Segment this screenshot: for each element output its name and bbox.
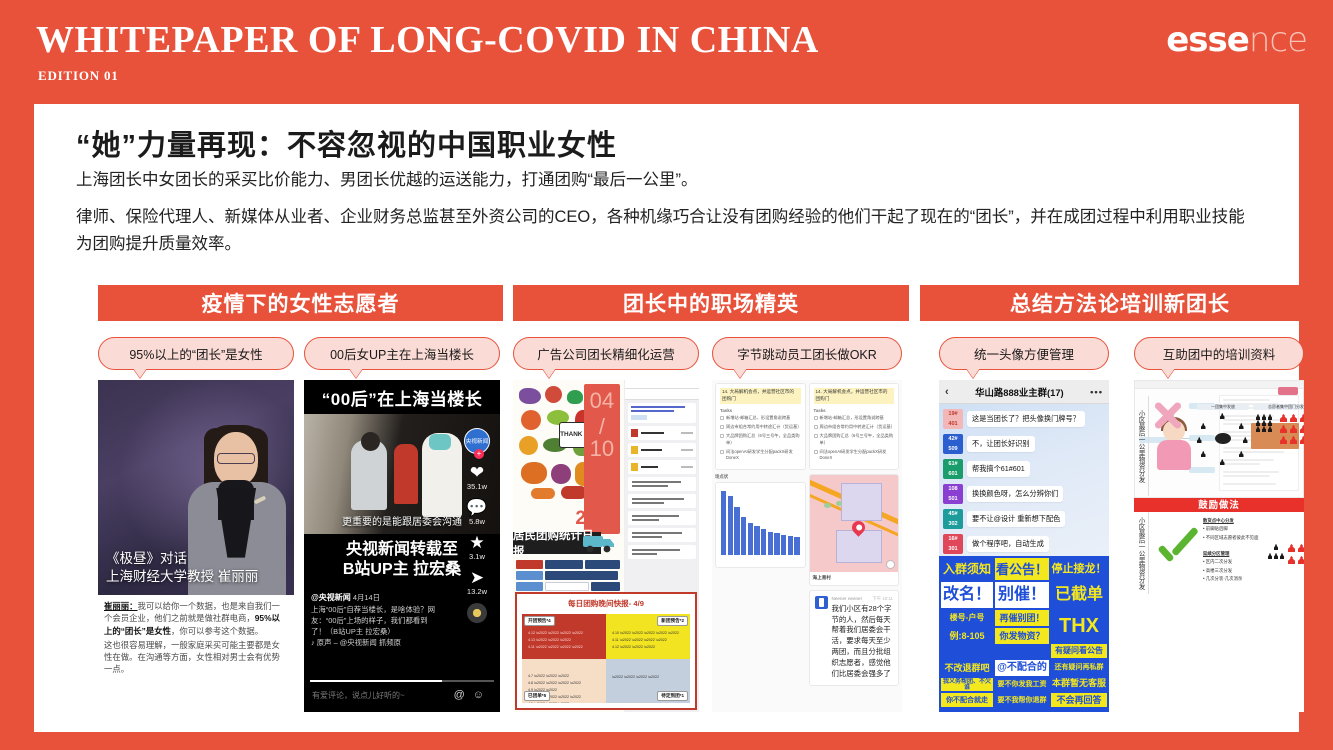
poster-cell-21: 不会再回答 (1051, 693, 1107, 707)
okr-tasks-label-right: Tasks (814, 408, 895, 413)
okr-task-text: 间法openAI研发学生分配packX研发DoneX (820, 449, 895, 462)
star-icon[interactable]: ★ (457, 533, 497, 552)
share-icon[interactable]: ➤ (457, 568, 497, 587)
okr-task-row: 间法openAI研发学生分配packX研发DoneX (814, 449, 895, 462)
checkbox-icon[interactable] (720, 425, 724, 429)
section-banner-3: 总结方法论培训新团长 (920, 285, 1320, 321)
thumbnail-douyin-video[interactable]: “00后”在上海当楼长 更重要的是能跟居委会沟通 央视新闻转载至 B站UP主 拉… (304, 380, 500, 712)
diagram-caption-right: 志愿者集中团门分发 (1253, 404, 1304, 410)
okr-card-right: 14. 大局解机会点，并运营社区市的团购门 Tasks 新增站-邮箱汇总，形设置… (809, 383, 900, 470)
okr-column-left: 14. 大局解机会点，并运营社区市的团购门 Tasks 新增站-邮箱汇总，形设置… (715, 383, 806, 709)
avatar[interactable]: 108501 (943, 484, 963, 504)
poster-cell-6: 已截单 (1051, 582, 1107, 608)
chat-message: 19#401这是当团长了？把头像换门牌号？ (943, 409, 1105, 429)
okr-task-text: 新增站-邮箱汇总，形设置角说跨基 (820, 415, 884, 421)
comment-time: 下午 10:11 (872, 596, 893, 602)
poster-cell-13: 不改退群吧 (941, 660, 993, 676)
good-bullet-5: • 几次分装·几次消杀 (1203, 575, 1265, 583)
chat-message: 42#509不，让团长好识别 (943, 434, 1105, 454)
okr-task-row: 大品牌团购汇总（6号三号午，全品类购单） (720, 433, 801, 446)
douyin-action-rail[interactable]: 央视新闻 ❤ 35.1w 💬 5.8w ★ 3.1w ➤ 13.2w (457, 428, 497, 623)
douyin-avatar[interactable]: 央视新闻 (464, 428, 490, 454)
callout-6: 互助团中的培训资料 (1134, 337, 1304, 370)
diagram-good-cluster (1267, 544, 1304, 564)
report-month: 04 (590, 388, 614, 414)
okr-task-row: 间法openAI研发学生分配packX研发DoneX (720, 449, 801, 462)
good-bullets-2: 延续分区管理 • 区内二次分发 • 高楼三次分发 • 几次分装·几次消杀 (1203, 550, 1265, 583)
quadrant-open-group: 开团预告*4 4.12 \u2022 \u2022 \u2022 \u20224… (522, 614, 606, 659)
chat-message: 108501换换颜色呀，怎么分辨你们 (943, 484, 1105, 504)
wechat-rules-poster: 入群须知 看公告！ 停止接龙！ 改名！ 别催！ 已截单 楼号-户号 再催别团！ … (939, 556, 1109, 712)
comment-icon[interactable]: 💬 (457, 498, 497, 517)
comment-avatar (815, 596, 828, 609)
side-label-good: 小区最后一公里物资分发 (1134, 512, 1149, 594)
map-background (810, 475, 899, 585)
slide-title: “她”力量再现：不容忽视的中国职业女性 (76, 122, 617, 164)
poster-cell-15: 还有疑问再私群 (1051, 660, 1107, 674)
music-disc-icon (467, 603, 487, 623)
message-bubble: 帮我搞个61#601 (967, 461, 1030, 477)
poster-cell-17: 要不你发我工资 (995, 678, 1049, 691)
douyin-account[interactable]: @央视新闻 (311, 593, 351, 602)
message-bubble: 要不让@设计 重新想下配色 (967, 511, 1065, 527)
daily-flash-report: 每日团购晚间快报- 4/9 开团预告*4 4.12 \u2022 \u2022 … (515, 592, 697, 710)
chat-message: 16#301做个程序吧，自动生成 (943, 534, 1105, 554)
wechat-header: ‹ 华山路888业主群(17) ••• (939, 380, 1109, 404)
comment-body: 我们小区有28个字节的人，然后每天帮着我们居委会干活，要求每天至少两团，而且分批… (832, 604, 894, 681)
edition-label: EDITION 01 (38, 68, 119, 84)
thumbnail-training-material[interactable]: 坚决杜绝 小区最后一公里物资分发 一团集中发放 (1134, 380, 1304, 712)
slide-lead: 上海团长中女团长的采买比价能力、男团长优越的运送能力，打通团购“最后一公里”。 (76, 168, 1256, 193)
checkbox-icon[interactable] (814, 450, 818, 454)
poster-cell-18: 本群暂无客服 (1051, 676, 1107, 691)
mindmap-share-button[interactable] (1278, 387, 1298, 395)
diagram-caption-center: 一团集中发放 (1197, 404, 1249, 410)
douyin-date: 4月14日 (353, 593, 380, 602)
callout-5: 统一头像方便管理 (939, 337, 1109, 370)
good-bullets-1: 散货点中心分发 • 前脚贴后脚 • 不同区域志愿者彼此不见面 (1203, 517, 1265, 542)
checkbox-icon[interactable] (720, 434, 724, 438)
avatar[interactable]: 42#509 (943, 434, 963, 454)
douyin-favorite-count: 3.1w (457, 552, 497, 561)
side-label-bad: 小区最后一公里物资分发 (1134, 396, 1149, 496)
okr-comment: Neener neener 下午 10:11 我们小区有28个字节的人，然后每天… (809, 590, 900, 687)
douyin-share-count: 13.2w (457, 587, 497, 596)
diagram-center-cluster: 一团集中发放 (1197, 404, 1249, 465)
poster-cell-9: THX (1051, 610, 1107, 642)
message-bubble: 不，让团长好识别 (967, 436, 1035, 452)
poster-cell-20: 要不我帮你退群 (995, 693, 1049, 707)
thumbnail-okr-doc[interactable]: 14. 大局解机会点，并运营社区市的团购门 Tasks 新增站-邮箱汇总，形设置… (712, 380, 902, 712)
okr-task-text: 间法openAI研发学生分配packX研发DoneX (726, 449, 801, 462)
okr-map[interactable]: 海上易村 (809, 474, 900, 586)
essence-logo: essence (1166, 20, 1307, 60)
wechat-group-title: 华山路888业主群(17) (949, 385, 1090, 399)
chat-message: 45#302要不让@设计 重新想下配色 (943, 509, 1105, 529)
poster-cell-16: 我义务帮团、不欠谁 (941, 678, 993, 691)
poster-cell-8: 再催别团！ (995, 610, 1049, 626)
okr-card-left: 14. 大局解机会点，并运营社区市的团购门 Tasks 新增站-邮箱汇总，形设置… (715, 383, 806, 470)
message-bubble: 做个程序吧，自动生成 (967, 536, 1049, 552)
good-bullet-1: • 前脚贴后脚 (1203, 525, 1265, 533)
poster-cell-5: 别催！ (995, 582, 1049, 608)
diagram-right-cluster: 志愿者集中团门分发 (1253, 404, 1304, 444)
douyin-comment-bar[interactable]: 有爱评论，说点儿好听的~ @☺ (304, 684, 500, 706)
mention-and-emoji-icons[interactable]: @☺ (454, 689, 492, 701)
okr-task-text: 周边市组合常约用中转途汇计（货运基） (820, 424, 895, 430)
callout-3: 广告公司团长精细化运营 (513, 337, 699, 370)
map-locate-icon[interactable] (886, 560, 895, 569)
okr-task-text: 大品牌团购汇总（6号三号午，全品类购单） (820, 433, 895, 446)
poster-cell-7: 楼号-户号 (941, 610, 993, 626)
douyin-meta: @央视新闻 4月14日 上海“00后”自荐当楼长，是啥体验？网友：“00后”上场… (311, 592, 439, 648)
poster-cell-10: 例:8-105 (941, 628, 993, 644)
thumbnail-groupbuy-report[interactable]: THANK YOU 04 / 10 2022 居民团购统计日报 (513, 380, 699, 712)
thumbnail-wechat-group[interactable]: ‹ 华山路888业主群(17) ••• 19#401这是当团长了？把头像换门牌号… (939, 380, 1109, 712)
poster-cell-4: 改名！ (941, 582, 993, 608)
bad-practice-section: 小区最后一公里物资分发 一团集中发放 (1134, 396, 1304, 496)
report-day: 10 (590, 436, 614, 462)
douyin-comment-placeholder[interactable]: 有爱评论，说点儿好听的~ (312, 690, 405, 701)
quadrant-label-2: 新团预告*2 (657, 616, 688, 626)
quadrant-pending-group: \u2022 \u2022 \u2022 \u2022 待定到团*1 (606, 659, 690, 704)
flash-report-quadrants: 开团预告*4 4.12 \u2022 \u2022 \u2022 \u20224… (522, 614, 690, 703)
good-head-2: 延续分区管理 (1203, 550, 1265, 558)
avatar[interactable]: 19#401 (943, 409, 963, 429)
checkbox-icon[interactable] (814, 434, 818, 438)
poster-cell-12: 有疑问看公告 (1051, 644, 1107, 658)
quadrant-label-1: 开团预告*4 (524, 616, 555, 626)
poster-cell-1: 入群须知 (941, 558, 993, 580)
poster-cell-2: 看公告！ (995, 558, 1049, 580)
slide-card: “她”力量再现：不容忽视的中国职业女性 上海团长中女团长的采买比价能力、男团长优… (34, 104, 1299, 732)
douyin-like-count: 35.1w (457, 482, 497, 491)
okr-highlight-left: 14. 大局解机会点，并运营社区市的团购门 (720, 388, 801, 404)
poster-cell-3: 停止接龙！ (1051, 558, 1107, 580)
tv-caption-line-2: 上海财经大学教授 崔丽丽 (106, 568, 286, 587)
poster-cell-19: 你不配合就走 (941, 693, 993, 707)
tv-transcript: 崔丽丽：我可以给你一个数据，也是来自我们一个会员企业，他们之前就是做社群电商，9… (98, 595, 294, 712)
callout-1: 95%以上的“团长”是女性 (98, 337, 294, 370)
banner-good-practice: 鼓励做法 (1134, 496, 1304, 512)
douyin-description: 上海“00后”自荐当楼长，是啥体验？网友：“00后”上场的样子，我们都看到了！（… (311, 604, 439, 637)
page-title: WHITEPAPER OF LONG-COVID IN CHINA (36, 18, 819, 62)
avatar[interactable]: 16#301 (943, 534, 963, 554)
okr-task-row: 大品牌团购汇总（6号三号午，全品类购单） (814, 433, 895, 446)
tv-quote-b: ，你可以参考这个数据。 (171, 626, 263, 636)
more-icon[interactable]: ••• (1090, 386, 1103, 397)
tv-speaker-name: 崔丽丽： (104, 601, 138, 611)
avatar[interactable]: 45#302 (943, 509, 963, 529)
thumbnail-tv-interview[interactable]: 《极昼》对话 上海财经大学教授 崔丽丽 崔丽丽：我可以给你一个数据，也是来自我们… (98, 380, 294, 712)
checkbox-icon[interactable] (814, 416, 818, 420)
okr-task-text: 大品牌团购汇总（6号三号午，全品类购单） (726, 433, 801, 446)
section-banner-1: 疫情下的女性志愿者 (98, 285, 503, 321)
message-bubble: 这是当团长了？把头像换门牌号？ (967, 411, 1085, 427)
checkbox-icon[interactable] (814, 425, 818, 429)
logo-thin-part: nce (1249, 20, 1307, 60)
cross-mark-icon (1151, 398, 1185, 432)
okr-task-row: 周边市组合常约用中转途汇计（货运基） (814, 424, 895, 430)
okr-highlight-right: 14. 大局解机会点，并运营社区市的团购门 (814, 388, 895, 404)
good-bullet-3: • 区内二次分发 (1203, 558, 1265, 566)
flash-report-title: 每日团购晚间快报- 4/9 (517, 594, 695, 612)
comment-user: Neener neener (832, 596, 863, 602)
okr-task-row: 新增站-邮箱汇总，形设置角说跨基 (720, 415, 801, 421)
good-head-1: 散货点中心分发 (1203, 517, 1265, 525)
douyin-music[interactable]: ♪ 原声 – @央视新闻 抓频原 (311, 637, 439, 648)
okr-chart-label: 场点状 (715, 474, 806, 480)
chat-message: 61#601帮我搞个61#601 (943, 459, 1105, 479)
poster-cell-14: @不配合的 (995, 660, 1049, 676)
douyin-progress-bar[interactable] (310, 680, 494, 682)
logo-bold-part: esse (1166, 20, 1249, 60)
douyin-comment-count: 5.8w (457, 517, 497, 526)
map-label: 海上易村 (810, 572, 899, 585)
okr-task-text: 周边市组合常约用中转途汇计（货运基） (726, 424, 801, 430)
delivery-truck-icon (579, 530, 619, 554)
check-mark-icon (1155, 532, 1201, 572)
okr-tasks-label-left: Tasks (720, 408, 801, 413)
quadrant-new-group: 新团预告*2 4.10 \u2022 \u2022 \u2022 \u2022 … (606, 614, 690, 659)
quadrant-done-group: 4.7 \u2022 \u2022 \u20224.8 \u2022 \u202… (522, 659, 606, 704)
good-bullet-4: • 高楼三次分发 (1203, 567, 1265, 575)
okr-task-text: 新增站-邮箱汇总，形设置角说跨基 (726, 415, 790, 421)
poster-cell-11: 你发物资？ (995, 628, 1049, 644)
tv-caption-line-1: 《极昼》对话 (106, 550, 286, 569)
bar-series (721, 491, 800, 555)
tv-quote-c: 这也很容易理解，一般家庭采买可能主要都是女性在做。在沟通等方面，女性相对男士会有… (104, 639, 288, 676)
checkbox-icon[interactable] (720, 416, 724, 420)
douyin-headline: “00后”在上海当楼长 (304, 380, 500, 414)
avatar[interactable]: 61#601 (943, 459, 963, 479)
checkbox-icon[interactable] (720, 450, 724, 454)
section-banner-2: 团长中的职场精英 (513, 285, 909, 321)
okr-bar-chart (715, 482, 806, 568)
callout-4: 字节跳动员工团长做OKR (712, 337, 902, 370)
good-practice-section: 小区最后一公里物资分发 散货点中心分发 • 前脚贴后脚 • 不同区域志愿者彼此不… (1134, 512, 1304, 594)
quadrant-label-3: 已团单*5 (524, 691, 550, 701)
okr-column-right: 14. 大局解机会点，并运营社区市的团购门 Tasks 新增站-邮箱汇总，形设置… (809, 383, 900, 709)
page-header: WHITEPAPER OF LONG-COVID IN CHINA EDITIO… (0, 0, 1333, 100)
tv-caption: 《极昼》对话 上海财经大学教授 崔丽丽 (106, 550, 286, 587)
message-bubble: 换换颜色呀，怎么分辨你们 (967, 486, 1063, 502)
tv-screenshot: 《极昼》对话 上海财经大学教授 崔丽丽 (98, 380, 294, 595)
callout-2: 00后女UP主在上海当楼长 (304, 337, 500, 370)
heart-icon[interactable]: ❤ (457, 463, 497, 482)
slide-body: 律师、保险代理人、新媒体从业者、企业财务总监甚至外资公司的CEO，各种机缘巧合让… (76, 204, 1261, 257)
okr-task-row: 周边市组合常约用中转途汇计（货运基） (720, 424, 801, 430)
quadrant-label-4: 待定到团*1 (657, 691, 688, 701)
good-bullet-2: • 不同区域志愿者彼此不见面 (1203, 534, 1265, 542)
okr-task-row: 新增站-邮箱汇总，形设置角说跨基 (814, 415, 895, 421)
wechat-message-list: 19#401这是当团长了？把头像换门牌号？ 42#509不，让团长好识别 61#… (939, 404, 1109, 556)
